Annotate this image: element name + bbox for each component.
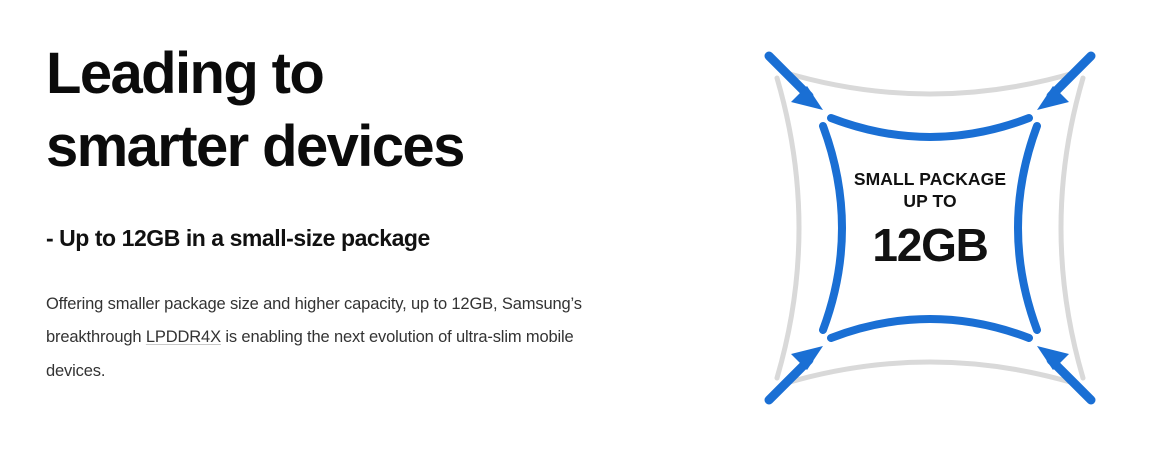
inner-package-outline-icon: [823, 118, 1037, 338]
body-paragraph: Offering smaller package size and higher…: [46, 288, 586, 388]
promo-banner: Leading to smarter devices - Up to 12GB …: [0, 0, 1175, 460]
page-title: Leading to smarter devices: [46, 38, 666, 183]
text-column: Leading to smarter devices - Up to 12GB …: [46, 38, 666, 183]
product-term-lpddr4x: LPDDR4X: [146, 328, 221, 346]
subheading: - Up to 12GB in a small-size package: [46, 224, 430, 254]
package-size-graphic: SMALL PACKAGE UP TO 12GB: [735, 30, 1125, 430]
package-shrink-illustration: [735, 30, 1125, 430]
outer-package-outline-icon: [777, 72, 1083, 384]
